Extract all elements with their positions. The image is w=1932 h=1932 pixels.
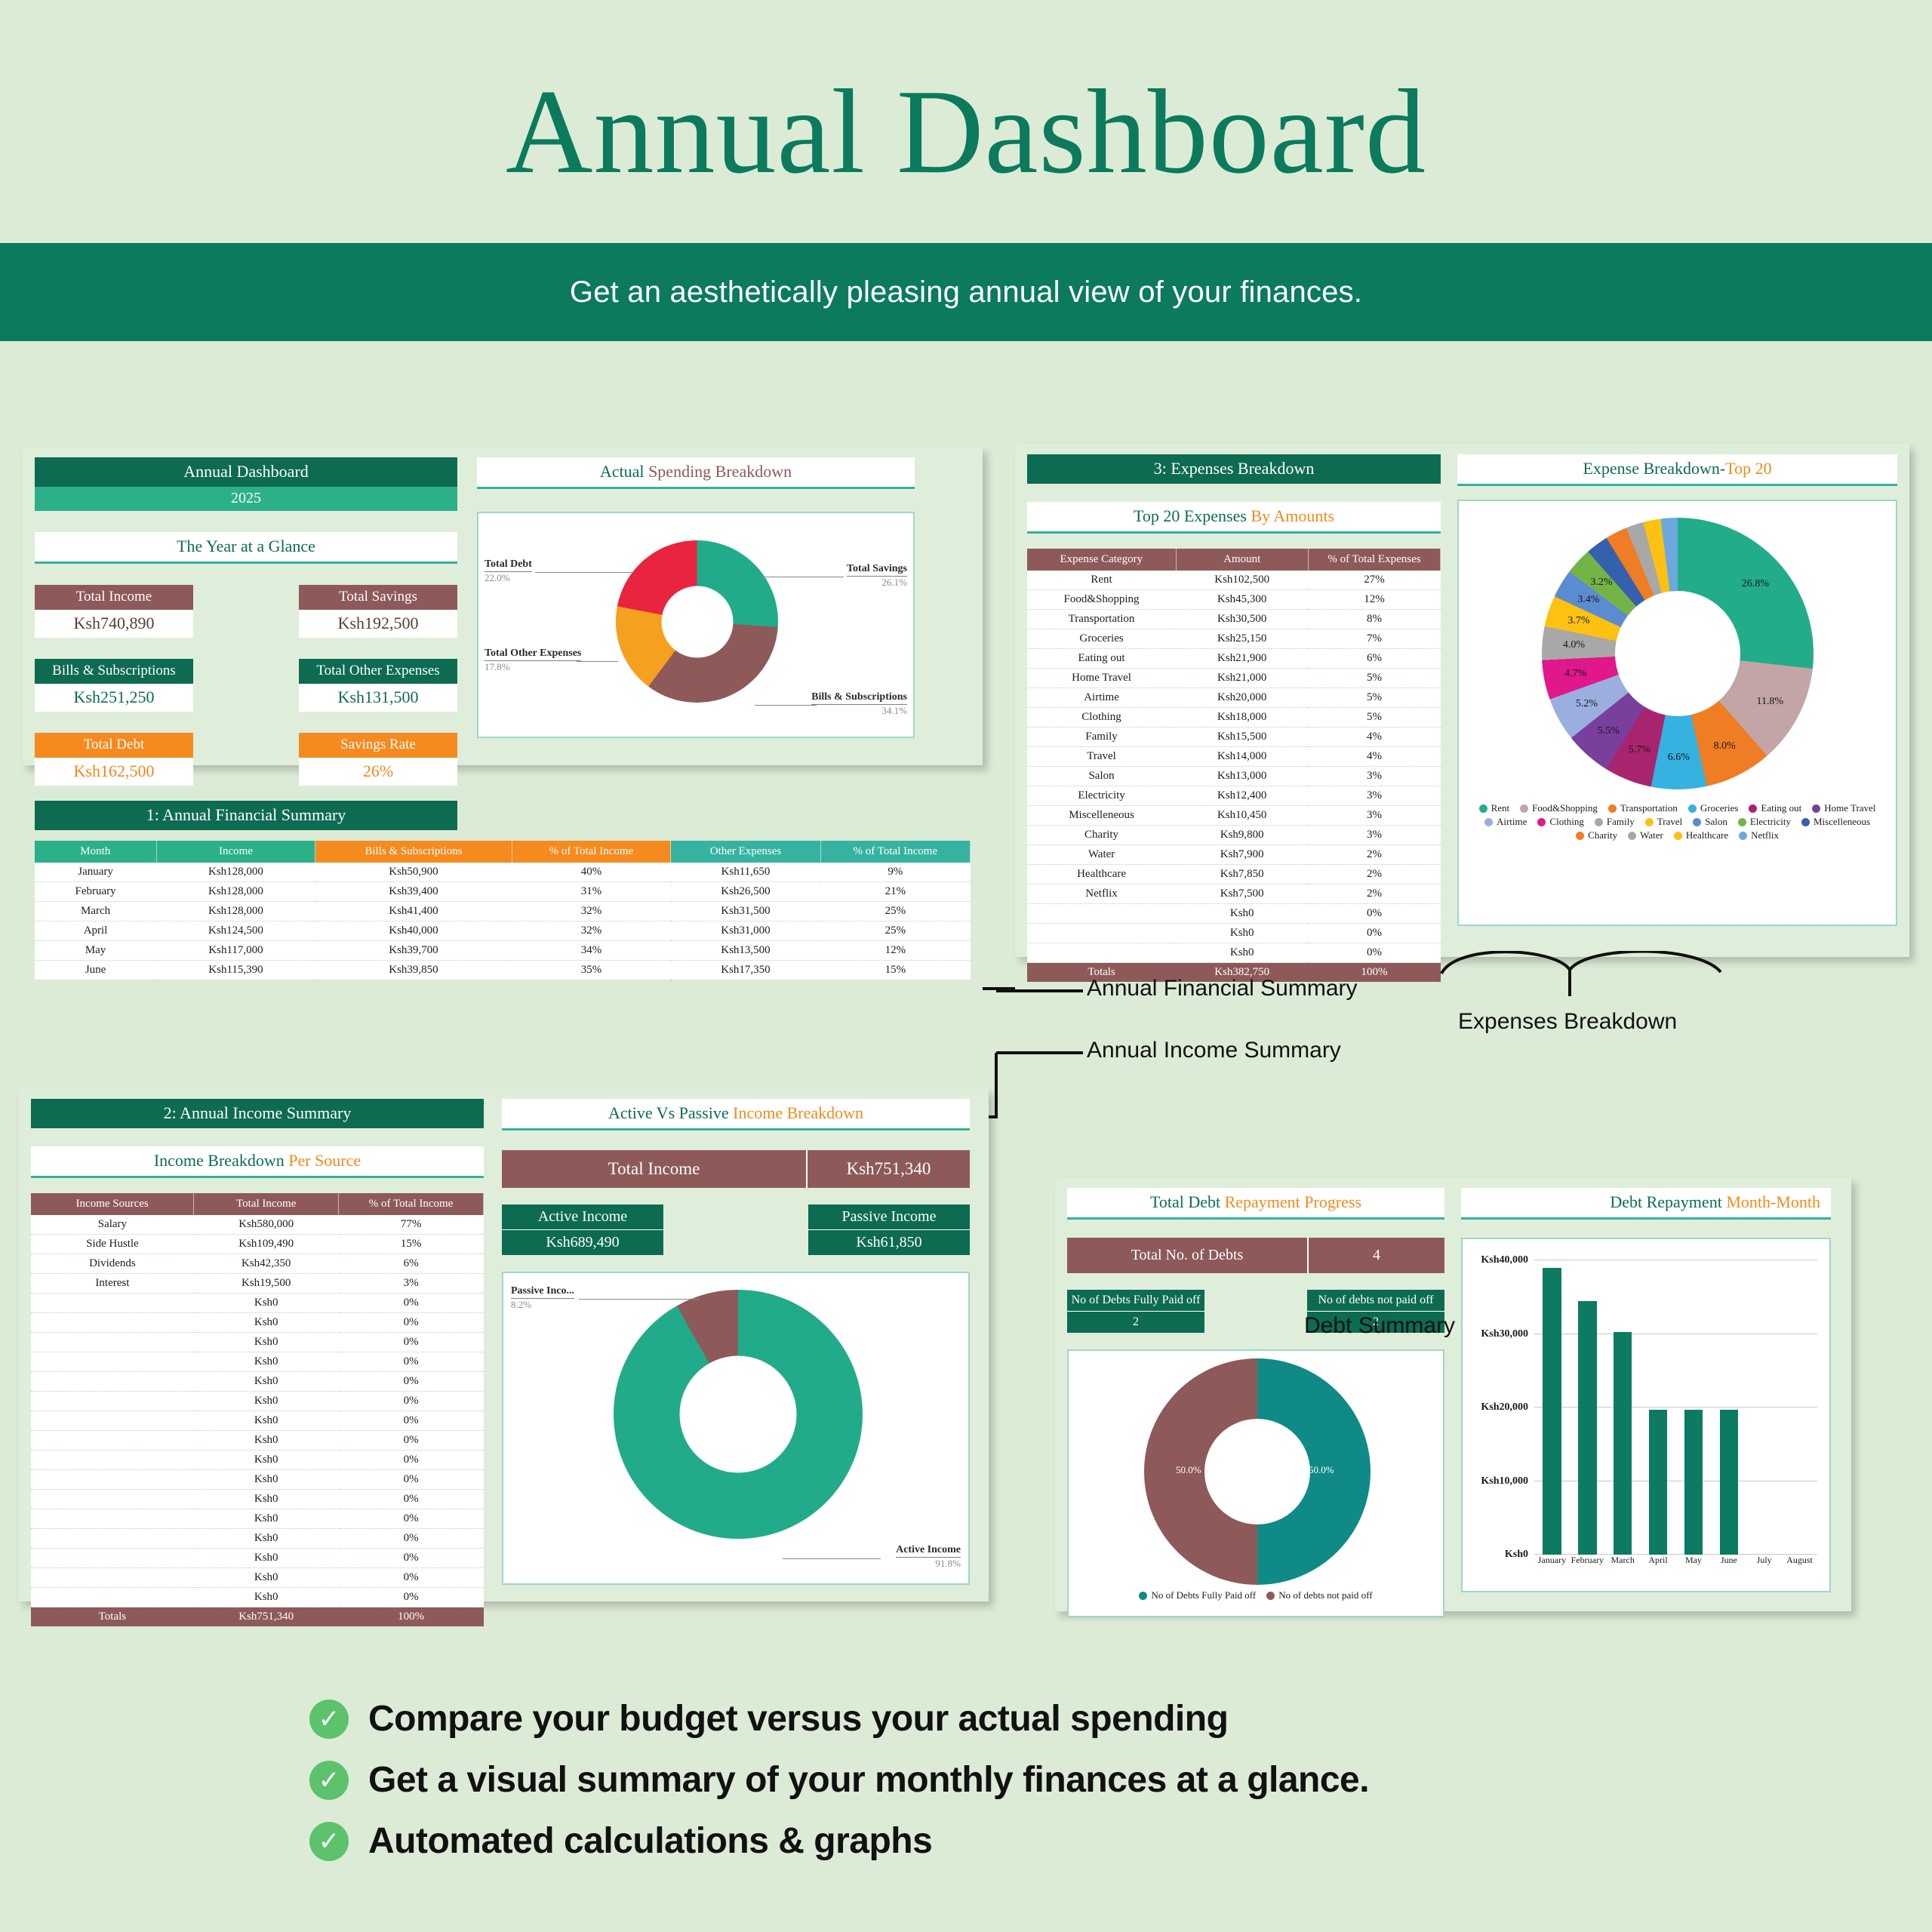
callout-label: Total Debt (485, 558, 532, 572)
table-row: FamilyKsh15,5004% (1027, 728, 1441, 747)
table-cell: 25% (820, 902, 970, 921)
total-debts-value: 4 (1309, 1238, 1444, 1273)
table-cell (31, 1451, 194, 1470)
callout-label: Total Other Expenses (485, 648, 581, 661)
income-table: Income Sources Total Income % of Total I… (31, 1193, 484, 1626)
table-row: Eating outKsh21,9006% (1027, 649, 1441, 669)
legend-label: Clothing (1549, 816, 1584, 828)
legend-label: Electricity (1750, 816, 1791, 828)
kpi-savings-rate: Savings Rate 26% (299, 733, 457, 786)
table-cell: Ksh0 (194, 1509, 339, 1529)
table-cell: January (35, 863, 156, 882)
legend-label: Eating out (1761, 802, 1801, 814)
debts-unpaid-label: No of debts not paid off (1307, 1290, 1444, 1312)
legend-item: Healthcare (1674, 829, 1728, 841)
bullet-item: ✓ Compare your budget versus your actual… (309, 1698, 1369, 1740)
callout-label: Bills & Subscriptions (811, 691, 907, 705)
legend-label: Water (1640, 829, 1663, 841)
kpi-label: Savings Rate (299, 733, 457, 758)
kpi-label: Total Other Expenses (299, 659, 457, 684)
table-cell: Groceries (1027, 629, 1176, 649)
table-row: Home TravelKsh21,0005% (1027, 669, 1441, 688)
banner-part-a: Actual (600, 462, 648, 481)
table-cell (31, 1352, 194, 1372)
kpi-total-income: Total Income Ksh740,890 (35, 585, 193, 638)
table-cell (31, 1333, 194, 1352)
table-cell: February (35, 882, 156, 902)
donut-slice-label: 26.8% (1742, 578, 1769, 590)
table-row: Ksh00% (31, 1352, 484, 1372)
table-cell: Ksh0 (1176, 904, 1308, 924)
table-row: Ksh00% (31, 1451, 484, 1470)
table-cell: March (35, 902, 156, 921)
table-cell: Ksh0 (194, 1431, 339, 1451)
table-row: Ksh00% (31, 1549, 484, 1568)
x-tick-label: January (1534, 1555, 1570, 1577)
dashboard-year: 2025 (35, 487, 457, 511)
y-tick-label: Ksh40,000 (1481, 1254, 1528, 1266)
table-cell (31, 1372, 194, 1392)
panel-annual-dashboard: Annual Dashboard 2025 The Year at a Glan… (23, 447, 983, 765)
year-at-a-glance-banner: The Year at a Glance (35, 532, 457, 564)
connector-lines (0, 951, 1932, 1223)
table-cell: Ksh50,900 (315, 863, 512, 882)
legend-item: Transportation (1608, 802, 1678, 814)
donut-slice-label: 6.6% (1668, 752, 1690, 764)
table-cell (31, 1313, 194, 1333)
x-tick-label: April (1641, 1555, 1676, 1577)
callout-total-other-expenses: Total Other Expenses 17.8% (485, 648, 581, 673)
table-cell: 0% (339, 1490, 484, 1509)
x-tick-label: May (1676, 1555, 1712, 1577)
x-tick-label: August (1782, 1555, 1817, 1577)
table-cell: Ksh0 (194, 1451, 339, 1470)
bar-x-axis: JanuaryFebruaryMarchAprilMayJuneJulyAugu… (1534, 1555, 1817, 1577)
table-cell: Ksh21,900 (1176, 649, 1308, 669)
kpi-value: Ksh251,250 (35, 684, 193, 712)
table-cell: Ksh21,000 (1176, 669, 1308, 688)
expense-breakdown-chart: 26.8%11.8%8.0%6.6%5.7%5.5%5.2%4.7%4.0%3.… (1457, 500, 1897, 926)
table-cell: Ksh128,000 (156, 902, 315, 921)
table-cell: Dividends (31, 1254, 194, 1274)
legend-item: Eating out (1749, 802, 1801, 814)
bullet-text: Automated calculations & graphs (368, 1820, 932, 1862)
connector-label-debt-summary: Debt Summary (1304, 1313, 1455, 1339)
table-row: Food&ShoppingKsh45,30012% (1027, 590, 1441, 610)
income-donut (614, 1290, 863, 1539)
table-cell: Ksh0 (1176, 924, 1308, 943)
callout-value: 22.0% (485, 572, 532, 584)
table-cell: Ksh30,500 (1176, 610, 1308, 629)
table-cell: Side Hustle (31, 1235, 194, 1254)
table-cell: Ksh31,500 (671, 902, 820, 921)
table-cell: Family (1027, 728, 1176, 747)
table-cell: 6% (1308, 649, 1440, 669)
table-row: AirtimeKsh20,0005% (1027, 688, 1441, 708)
table-cell: Water (1027, 845, 1176, 865)
expense-legend: RentFood&ShoppingTransportationGroceries… (1471, 801, 1884, 842)
table-row: Ksh00% (31, 1568, 484, 1588)
table-cell: Ksh12,400 (1176, 786, 1308, 806)
table-row: ClothingKsh18,0005% (1027, 708, 1441, 728)
table-cell: 0% (339, 1588, 484, 1607)
table-row: SalonKsh13,0003% (1027, 767, 1441, 786)
col-pct-other: % of Total Income (820, 841, 970, 863)
active-income-value: Ksh689,490 (502, 1230, 663, 1255)
legend-label: Family (1607, 816, 1635, 828)
dashboard-sheet-title: Annual Dashboard (35, 457, 457, 487)
table-cell: Rent (1027, 571, 1176, 590)
bar (1720, 1410, 1738, 1555)
table-cell: 2% (1308, 865, 1440, 884)
table-row: AprilKsh124,500Ksh40,00032%Ksh31,00025% (35, 921, 971, 941)
callout-label: Active Income (896, 1544, 961, 1558)
table-cell: Ksh7,900 (1176, 845, 1308, 865)
col-other-exp: Other Expenses (671, 841, 820, 863)
table-cell: 2% (1308, 884, 1440, 904)
legend-item: Groceries (1688, 802, 1739, 814)
table-cell: Ksh124,500 (156, 921, 315, 941)
financial-summary-title: 1: Annual Financial Summary (35, 801, 457, 830)
bullet-item: ✓ Get a visual summary of your monthly f… (309, 1759, 1369, 1801)
bar (1578, 1301, 1596, 1555)
table-cell: 0% (339, 1313, 484, 1333)
kpi-label: Total Debt (35, 733, 193, 758)
top20-expenses-banner: Top 20 Expenses By Amounts (1027, 502, 1441, 534)
callout-label: Total Savings (847, 563, 907, 577)
table-row: HealthcareKsh7,8502% (1027, 865, 1441, 884)
table-cell: 0% (339, 1294, 484, 1313)
table-cell: 5% (1308, 669, 1440, 688)
x-tick-label: March (1605, 1555, 1641, 1577)
table-cell: 0% (1308, 924, 1440, 943)
check-icon: ✓ (309, 1761, 349, 1800)
legend-label: Salon (1705, 816, 1727, 828)
legend-label: Rent (1491, 802, 1510, 814)
table-cell: 27% (1308, 571, 1440, 590)
table-cell: 0% (339, 1470, 484, 1490)
table-row: MarchKsh128,000Ksh41,40032%Ksh31,50025% (35, 902, 971, 921)
table-row: FebruaryKsh128,000Ksh39,40031%Ksh26,5002… (35, 882, 971, 902)
debt-donut: 50.0% 50.0% (1144, 1358, 1371, 1585)
table-cell: Ksh0 (194, 1470, 339, 1490)
table-cell: Ksh14,000 (1176, 747, 1308, 767)
bar (1684, 1410, 1703, 1555)
table-cell: Ksh45,300 (1176, 590, 1308, 610)
legend-item: Home Travel (1812, 802, 1875, 814)
callout-label: Passive Inco... (511, 1285, 574, 1299)
table-cell: Ksh0 (194, 1294, 339, 1313)
debts-paid-label: No of Debts Fully Paid off (1067, 1290, 1204, 1312)
y-tick-label: Ksh0 (1505, 1549, 1528, 1561)
table-cell: Ksh39,400 (315, 882, 512, 902)
donut-slice-label: 4.7% (1564, 668, 1586, 680)
legend-label: No of debts not paid off (1278, 1589, 1372, 1601)
table-row: RentKsh102,50027% (1027, 571, 1441, 590)
table-cell: 0% (339, 1529, 484, 1549)
donut-slice-label: 5.7% (1629, 744, 1651, 756)
table-cell (31, 1568, 194, 1588)
page-title: Annual Dashboard (0, 68, 1932, 195)
kpi-bills-subscriptions: Bills & Subscriptions Ksh251,250 (35, 659, 193, 712)
table-cell: Ksh7,500 (1176, 884, 1308, 904)
table-cell: Ksh0 (194, 1549, 339, 1568)
table-cell: 32% (512, 921, 671, 941)
kpi-value: 26% (299, 758, 457, 786)
table-cell: Netflix (1027, 884, 1176, 904)
callout-active-income: Active Income 91.8% (896, 1544, 961, 1570)
legend-item: Water (1628, 829, 1663, 841)
callout-total-debt: Total Debt 22.0% (485, 558, 532, 584)
donut-slice-label: 8.0% (1714, 740, 1736, 752)
panel-debt-summary: Total Debt Repayment Progress Total No. … (1055, 1177, 1851, 1611)
table-cell: Ksh109,490 (194, 1235, 339, 1254)
donut-slice-label: 3.7% (1567, 615, 1589, 627)
bullet-text: Get a visual summary of your monthly fin… (368, 1759, 1369, 1801)
table-cell (31, 1588, 194, 1607)
table-cell (31, 1490, 194, 1509)
legend-item: No of debts not paid off (1266, 1589, 1372, 1601)
table-cell: 0% (339, 1568, 484, 1588)
table-row: Ksh00% (31, 1431, 484, 1451)
donut-slice-label: 3.2% (1590, 577, 1612, 589)
table-cell: Ksh128,000 (156, 882, 315, 902)
table-cell: Ksh11,650 (671, 863, 820, 882)
kpi-total-debt: Total Debt Ksh162,500 (35, 733, 193, 786)
table-cell: Ksh26,500 (671, 882, 820, 902)
table-cell: 0% (339, 1549, 484, 1568)
legend-item: Food&Shopping (1520, 802, 1598, 814)
connector-label-income-summary: Annual Income Summary (1087, 1038, 1341, 1063)
bar-y-axis: Ksh0Ksh10,000Ksh20,000Ksh30,000Ksh40,000 (1463, 1239, 1534, 1591)
table-cell: 0% (339, 1509, 484, 1529)
panel-expenses-breakdown: 3: Expenses Breakdown Top 20 Expenses By… (1015, 444, 1909, 957)
table-cell: 100% (339, 1607, 484, 1627)
legend-item: Clothing (1537, 816, 1584, 828)
table-cell: Ksh7,850 (1176, 865, 1308, 884)
donut-slice-label: 11.8% (1757, 696, 1784, 708)
table-cell (1027, 924, 1176, 943)
table-cell (31, 1470, 194, 1490)
col-bills: Bills & Subscriptions (315, 841, 512, 863)
table-cell: 12% (1308, 590, 1440, 610)
table-cell: 8% (1308, 610, 1440, 629)
hero-banner: Get an aesthetically pleasing annual vie… (0, 243, 1932, 341)
callout-value: 8.2% (511, 1299, 574, 1311)
legend-label: Food&Shopping (1532, 802, 1598, 814)
legend-label: Healthcare (1686, 829, 1728, 841)
table-cell: Charity (1027, 826, 1176, 845)
legend-label: Charity (1588, 829, 1617, 841)
table-cell: Ksh0 (194, 1529, 339, 1549)
table-cell: Ksh0 (194, 1313, 339, 1333)
hero-subtitle: Get an aesthetically pleasing annual vie… (570, 275, 1362, 309)
callout-value: 17.8% (485, 661, 581, 673)
feature-bullets: ✓ Compare your budget versus your actual… (309, 1698, 1369, 1881)
table-cell: 21% (820, 882, 970, 902)
table-cell: April (35, 921, 156, 941)
table-row: InterestKsh19,5003% (31, 1274, 484, 1294)
table-cell: Ksh10,450 (1176, 806, 1308, 826)
table-row: MiscelleneousKsh10,4503% (1027, 806, 1441, 826)
callout-value: 26.1% (847, 577, 907, 589)
table-cell: 6% (339, 1254, 484, 1274)
kpi-label: Total Savings (299, 585, 457, 610)
table-row: NetflixKsh7,5002% (1027, 884, 1441, 904)
table-cell: Ksh102,500 (1176, 571, 1308, 590)
table-total-row: TotalsKsh751,340100% (31, 1607, 484, 1627)
table-cell: 0% (339, 1333, 484, 1352)
connector-label-financial-summary: Annual Financial Summary (1087, 976, 1358, 1001)
table-cell: Ksh19,500 (194, 1274, 339, 1294)
table-cell: 3% (1308, 806, 1440, 826)
legend-label: No of Debts Fully Paid off (1151, 1589, 1256, 1601)
kpi-label: Total Income (35, 585, 193, 610)
table-cell: Transportation (1027, 610, 1176, 629)
debts-paid-value: 2 (1067, 1312, 1204, 1333)
bullet-item: ✓ Automated calculations & graphs (309, 1820, 1369, 1862)
table-cell: Ksh0 (194, 1490, 339, 1509)
legend-item: Electricity (1738, 816, 1791, 828)
table-cell: 3% (1308, 826, 1440, 845)
legend-label: Netflix (1751, 829, 1779, 841)
legend-label: Home Travel (1824, 802, 1875, 814)
table-cell: 3% (1308, 786, 1440, 806)
table-cell: Ksh31,000 (671, 921, 820, 941)
table-cell: Ksh0 (194, 1392, 339, 1411)
col-amount: Amount (1176, 549, 1308, 571)
legend-item: Miscelleneous (1801, 816, 1870, 828)
table-row: Ksh00% (31, 1529, 484, 1549)
income-table-body: SalaryKsh580,00077%Side HustleKsh109,490… (31, 1215, 484, 1626)
table-cell: Ksh0 (194, 1333, 339, 1352)
table-cell: 9% (820, 863, 970, 882)
table-cell: 15% (339, 1235, 484, 1254)
bar-plot-area (1534, 1260, 1817, 1555)
col-expense-category: Expense Category (1027, 549, 1176, 571)
debt-legend: No of Debts Fully Paid off No of debts n… (1069, 1589, 1443, 1602)
connector-label-expenses-breakdown: Expenses Breakdown (1458, 1009, 1677, 1035)
callout-value: 34.1% (811, 705, 907, 717)
table-cell: Ksh0 (194, 1588, 339, 1607)
table-cell: Airtime (1027, 688, 1176, 708)
y-tick-label: Ksh20,000 (1481, 1401, 1528, 1414)
bar (1543, 1268, 1561, 1555)
table-cell: 0% (339, 1451, 484, 1470)
table-row: CharityKsh9,8003% (1027, 826, 1441, 845)
table-row: Ksh00% (31, 1313, 484, 1333)
kpi-value: Ksh162,500 (35, 758, 193, 786)
table-cell: Totals (31, 1607, 194, 1627)
kpi-value: Ksh131,500 (299, 684, 457, 712)
table-cell (31, 1549, 194, 1568)
table-row: Ksh00% (31, 1372, 484, 1392)
expenses-sheet-title: 3: Expenses Breakdown (1027, 454, 1441, 484)
legend-item: Netflix (1739, 829, 1779, 841)
table-cell: Ksh751,340 (194, 1607, 339, 1627)
debt-slice-paid-value: 50.0% (1309, 1464, 1334, 1476)
table-row: DividendsKsh42,3506% (31, 1254, 484, 1274)
table-cell: Ksh25,150 (1176, 629, 1308, 649)
table-cell: Ksh128,000 (156, 863, 315, 882)
bar (1649, 1410, 1667, 1555)
table-cell (31, 1529, 194, 1549)
table-cell: 32% (512, 902, 671, 921)
donut-slice-label: 5.5% (1598, 725, 1620, 737)
table-cell (1027, 904, 1176, 924)
debt-repayment-chart: Ksh0Ksh10,000Ksh20,000Ksh30,000Ksh40,000… (1461, 1238, 1831, 1592)
table-cell: 3% (339, 1274, 484, 1294)
table-cell: 4% (1308, 728, 1440, 747)
active-passive-chart: Passive Inco... 8.2% Active Income 91.8% (502, 1272, 970, 1585)
kpi-value: Ksh192,500 (299, 610, 457, 638)
table-row: Ksh00% (31, 1294, 484, 1313)
table-cell: 25% (820, 921, 970, 941)
table-cell: Home Travel (1027, 669, 1176, 688)
table-row: ElectricityKsh12,4003% (1027, 786, 1441, 806)
table-cell: Healthcare (1027, 865, 1176, 884)
table-row: JanuaryKsh128,000Ksh50,90040%Ksh11,6509% (35, 863, 971, 882)
table-cell: Travel (1027, 747, 1176, 767)
expenses-table: Expense Category Amount % of Total Expen… (1027, 549, 1441, 982)
table-row: GroceriesKsh25,1507% (1027, 629, 1441, 649)
donut-slice-label: 5.2% (1576, 698, 1598, 710)
table-cell: Ksh9,800 (1176, 826, 1308, 845)
table-row: Ksh00% (1027, 904, 1441, 924)
legend-item: No of Debts Fully Paid off (1139, 1589, 1256, 1601)
actual-spending-chart: Total Debt 22.0% Total Savings 26.1% Tot… (477, 512, 915, 738)
table-row: Ksh00% (31, 1470, 484, 1490)
legend-item: Rent (1479, 802, 1510, 814)
banner-part-a: Top 20 Expenses (1134, 506, 1251, 525)
legend-item: Salon (1693, 816, 1727, 828)
debt-slice-unpaid-value: 50.0% (1176, 1464, 1201, 1476)
table-cell: 0% (1308, 904, 1440, 924)
table-cell: 0% (339, 1411, 484, 1431)
debt-progress-chart: 50.0% 50.0% No of Debts Fully Paid off N… (1067, 1349, 1444, 1617)
actual-spending-banner: Actual Spending Breakdown (477, 457, 915, 489)
table-cell: Interest (31, 1274, 194, 1294)
table-cell: Ksh40,000 (315, 921, 512, 941)
table-cell: Eating out (1027, 649, 1176, 669)
kpi-total-savings: Total Savings Ksh192,500 (299, 585, 457, 638)
legend-item: Airtime (1484, 816, 1527, 828)
table-row: TransportationKsh30,5008% (1027, 610, 1441, 629)
table-cell: Ksh0 (194, 1568, 339, 1588)
table-cell: Salon (1027, 767, 1176, 786)
legend-item: Family (1595, 816, 1635, 828)
kpi-total-other-expenses: Total Other Expenses Ksh131,500 (299, 659, 457, 712)
table-row: WaterKsh7,9002% (1027, 845, 1441, 865)
table-row: Side HustleKsh109,49015% (31, 1235, 484, 1254)
table-row: Ksh00% (31, 1509, 484, 1529)
table-cell: Clothing (1027, 708, 1176, 728)
check-icon: ✓ (309, 1700, 349, 1739)
table-cell: 0% (339, 1352, 484, 1372)
col-income: Income (156, 841, 315, 863)
table-cell: 0% (339, 1372, 484, 1392)
donut-slice-label: 4.0% (1563, 639, 1585, 651)
table-cell: 5% (1308, 688, 1440, 708)
table-cell: Ksh18,000 (1176, 708, 1308, 728)
table-cell: 7% (1308, 629, 1440, 649)
table-cell: 40% (512, 863, 671, 882)
legend-label: Groceries (1700, 802, 1739, 814)
expenses-table-body: RentKsh102,50027%Food&ShoppingKsh45,3001… (1027, 571, 1441, 982)
table-row: Ksh00% (1027, 924, 1441, 943)
total-debts-label: Total No. of Debts (1067, 1238, 1309, 1273)
passive-income-value: Ksh61,850 (808, 1230, 970, 1255)
